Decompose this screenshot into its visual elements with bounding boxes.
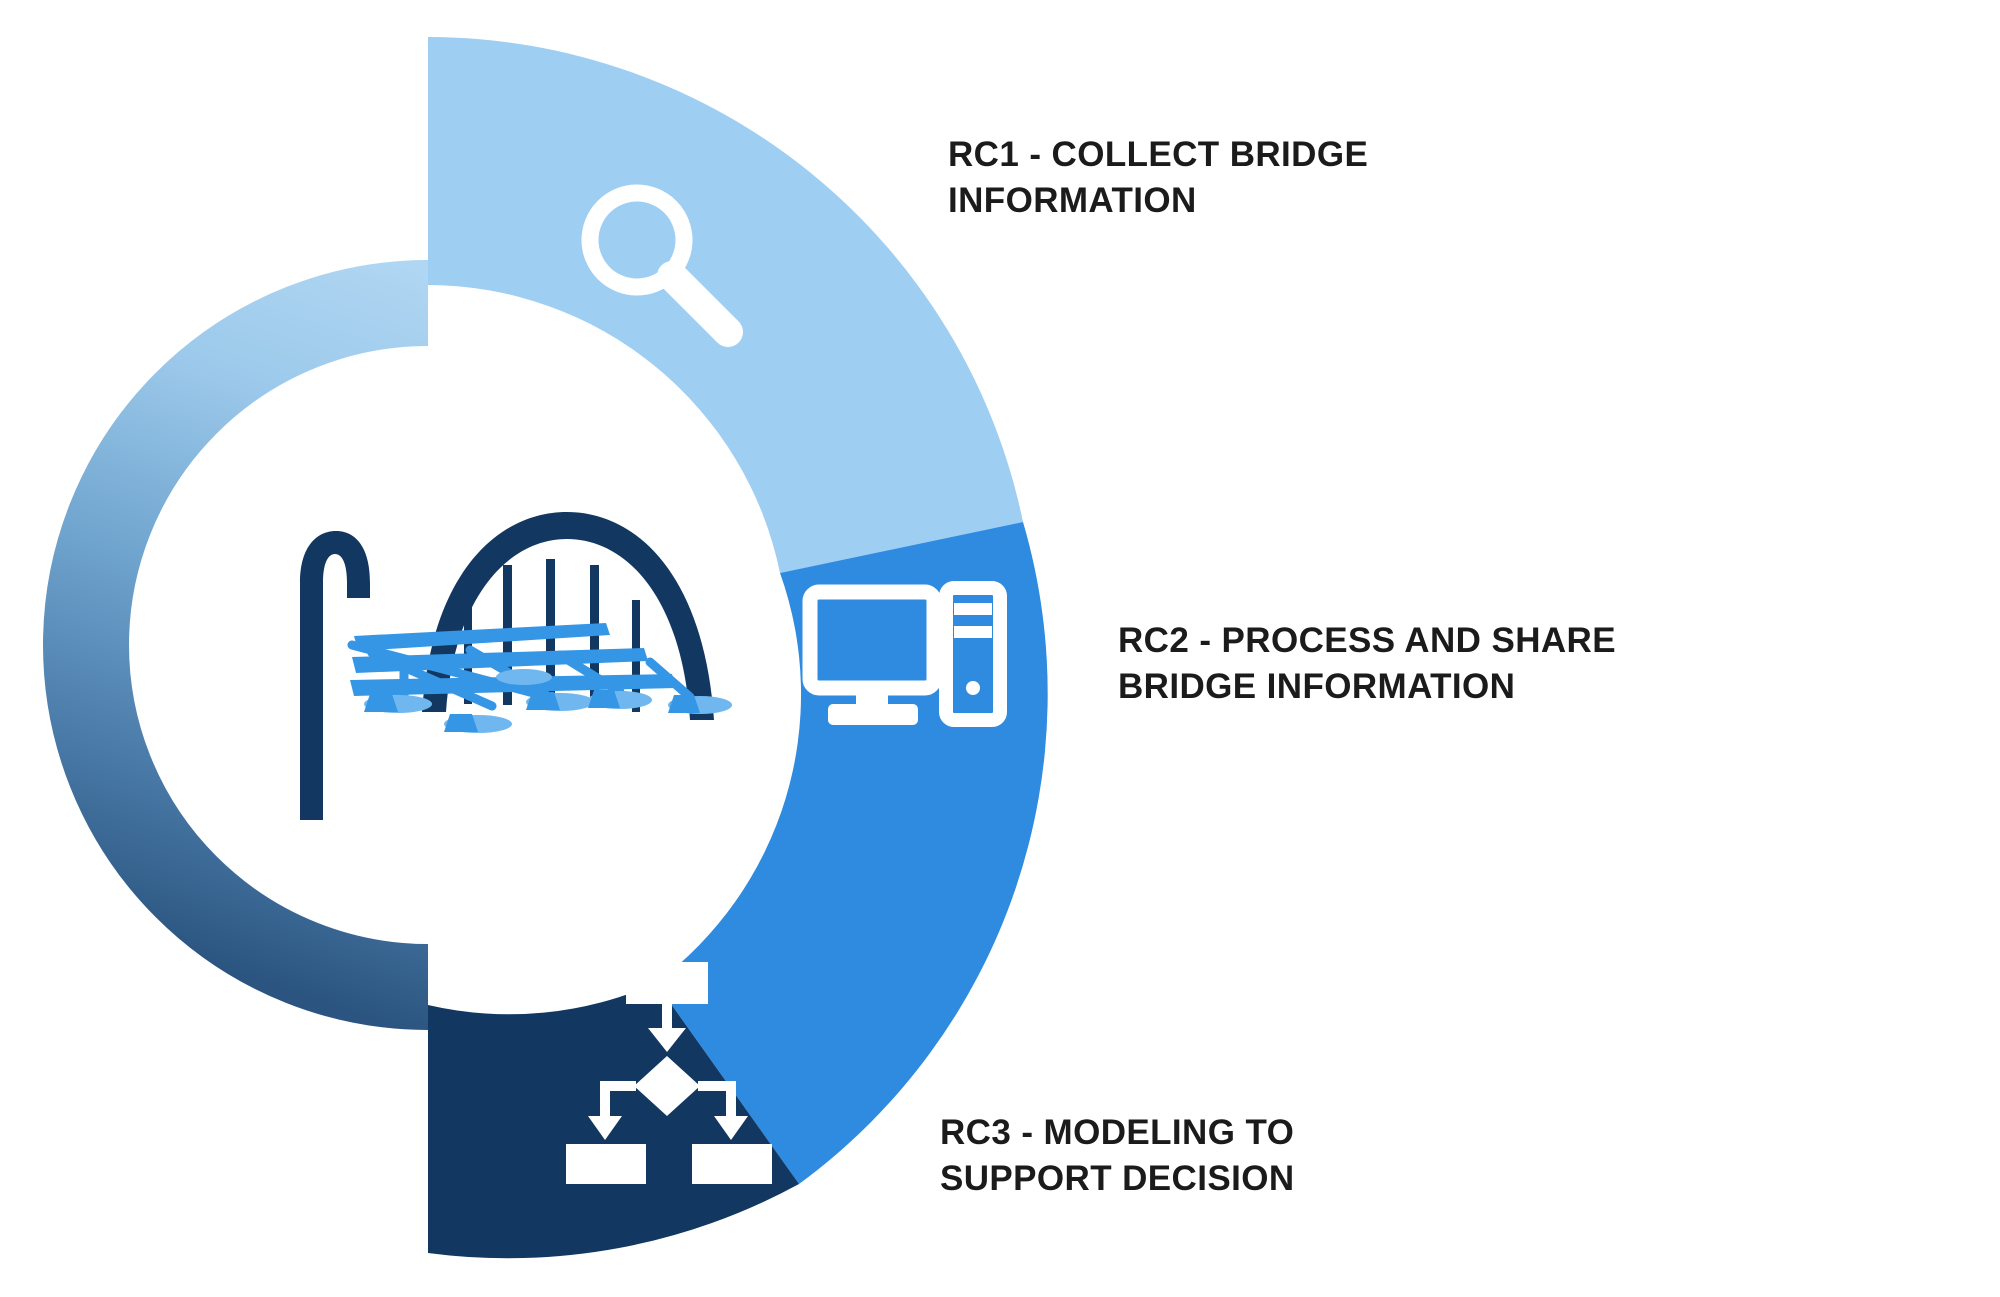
label-rc3-line2: SUPPORT DECISION — [940, 1156, 1295, 1202]
label-rc1: RC1 - COLLECT BRIDGE INFORMATION — [948, 132, 1368, 223]
label-rc1-line2: INFORMATION — [948, 178, 1368, 224]
label-rc2-line2: BRIDGE INFORMATION — [1118, 664, 1616, 710]
label-rc2-line1: RC2 - PROCESS AND SHARE — [1118, 618, 1616, 664]
label-rc2: RC2 - PROCESS AND SHARE BRIDGE INFORMATI… — [1118, 618, 1616, 709]
diagram-canvas: RC1 - COLLECT BRIDGE INFORMATION RC2 - P… — [0, 0, 2000, 1297]
label-rc1-line1: RC1 - COLLECT BRIDGE — [948, 132, 1368, 178]
label-rc3: RC3 - MODELING TO SUPPORT DECISION — [940, 1110, 1295, 1201]
label-rc3-line1: RC3 - MODELING TO — [940, 1110, 1295, 1156]
